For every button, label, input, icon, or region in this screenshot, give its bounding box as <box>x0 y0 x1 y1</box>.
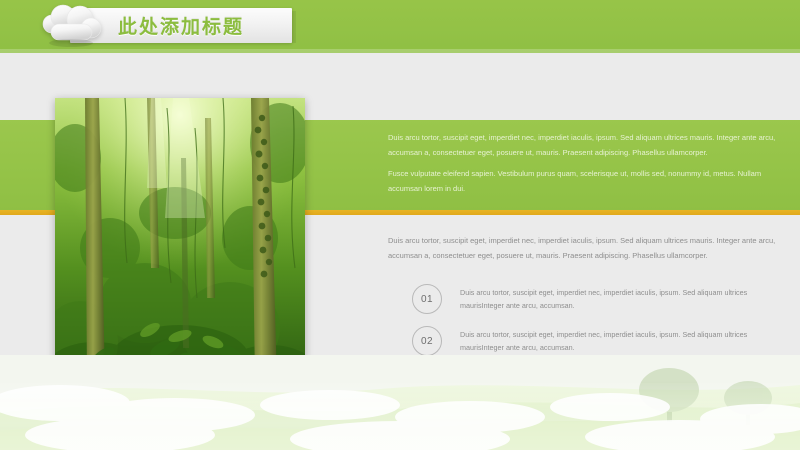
body-paragraph-1: Duis arcu tortor, suscipit eget, imperdi… <box>388 234 786 263</box>
cloud-icon <box>38 4 106 48</box>
header-band-highlight <box>0 49 800 53</box>
numbered-list: 01 Duis arcu tortor, suscipit eget, impe… <box>412 284 790 410</box>
list-item-number-badge: 03 <box>412 368 442 398</box>
intro-paragraph-1: Duis arcu tortor, suscipit eget, imperdi… <box>388 131 786 160</box>
hill-near <box>0 421 800 450</box>
forest-photo <box>55 98 305 382</box>
body-paragraph-group: Duis arcu tortor, suscipit eget, imperdi… <box>388 234 786 263</box>
intro-paragraph-2: Fusce vulputate eleifend sapien. Vestibu… <box>388 167 786 196</box>
list-item-text: Duis arcu tortor, suscipit eget, imperdi… <box>460 326 776 354</box>
list-item[interactable]: 02 Duis arcu tortor, suscipit eget, impe… <box>412 326 790 356</box>
presentation-slide: 此处添加标题 <box>0 0 800 450</box>
list-item-number-badge: 01 <box>412 284 442 314</box>
list-item[interactable]: 01 Duis arcu tortor, suscipit eget, impe… <box>412 284 790 314</box>
intro-paragraph-group: Duis arcu tortor, suscipit eget, imperdi… <box>388 131 786 196</box>
list-item-text: Duis arcu tortor, suscipit eget, imperdi… <box>460 284 776 312</box>
list-item[interactable]: 03 Duis arcu tortor, suscipit eget, impe… <box>412 368 790 398</box>
list-item-text: Duis arcu tortor, suscipit eget, imperdi… <box>460 368 776 396</box>
list-item-number-badge: 02 <box>412 326 442 356</box>
page-title: 此处添加标题 <box>118 12 244 39</box>
